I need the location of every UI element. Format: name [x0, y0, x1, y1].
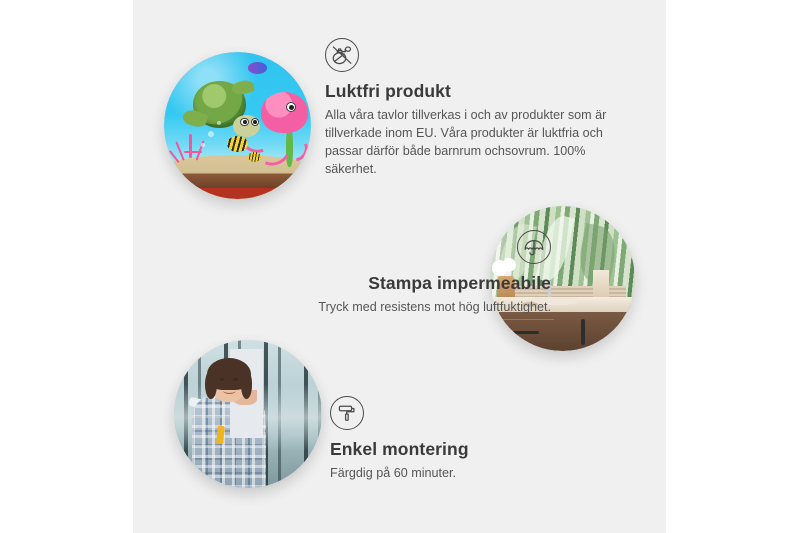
forest-mural-photo: [174, 340, 322, 488]
feature-block-easy-assembly: Enkel montering Färgdig på 60 minuter.: [330, 396, 630, 482]
cabinet-handle: [581, 319, 585, 345]
yellow-striped-fish: [227, 136, 248, 152]
feature-title: Luktfri produkt: [325, 81, 615, 102]
coral: [173, 134, 211, 172]
feature-title: Stampa impermeabile: [215, 273, 551, 294]
umbrella-icon: [517, 230, 551, 264]
feature-description: Färgdig på 60 minuter.: [330, 464, 630, 482]
content-panel: Luktfri produkt Alla våra tavlor tillver…: [133, 0, 666, 533]
floor-strip: [164, 174, 311, 199]
woman-hair-side: [205, 370, 217, 400]
feature-icon-wrap: [330, 396, 630, 430]
forest-mural-photo-inner: [174, 340, 322, 488]
feature-title: Enkel montering: [330, 439, 630, 460]
blue-fish: [248, 62, 267, 74]
paint-roller-icon: [330, 396, 364, 430]
feature-description: Alla våra tavlor tillverkas i och av pro…: [325, 106, 615, 179]
screenshot-stage: Luktfri produkt Alla våra tavlor tillver…: [0, 0, 800, 533]
feature-block-waterproof: Stampa impermeabile Tryck med resistens …: [215, 230, 551, 316]
feature-block-odourless: Luktfri produkt Alla våra tavlor tillver…: [325, 38, 615, 179]
feature-description: Tryck med resistens mot hög luftfuktighe…: [215, 298, 551, 316]
feature-icon-wrap: [325, 38, 615, 72]
feature-icon-wrap: [215, 230, 551, 264]
drawer-handle: [507, 331, 539, 335]
bubble: [201, 143, 205, 147]
underwater-cartoon-photo-inner: [164, 52, 311, 199]
underwater-cartoon-photo: [164, 52, 311, 199]
no-odor-spray-bottle-icon: [325, 38, 359, 72]
